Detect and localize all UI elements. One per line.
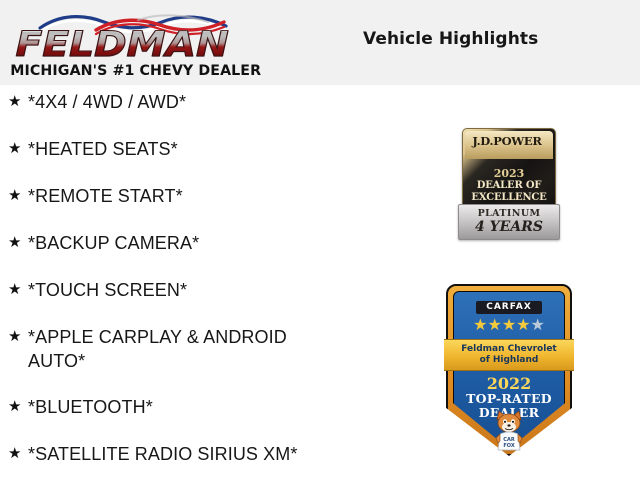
dealer-logo[interactable]: FELDMAN MICHIGAN'S #1 CHEVY DEALER: [8, 10, 236, 82]
star-bullet-icon: ★: [8, 442, 28, 466]
list-item: ★ *SATELLITE RADIO SIRIUS XM*: [0, 442, 340, 489]
vehicle-highlights-list: ★ *4X4 / 4WD / AWD* ★ *HEATED SEATS* ★ *…: [0, 90, 340, 489]
star-bullet-icon: ★: [8, 231, 28, 255]
carfax-dealer-name: Feldman Chevrolet of Highland: [444, 344, 574, 366]
feldman-wordmark-text: FELDMAN: [15, 28, 228, 62]
list-item-label: *SATELLITE RADIO SIRIUS XM*: [28, 442, 340, 466]
list-item: ★ *BACKUP CAMERA*: [0, 231, 340, 278]
jdpower-wordmark: J.D.POWER: [463, 134, 551, 148]
carfax-ribbon: Feldman Chevrolet of Highland: [444, 339, 574, 371]
star-bullet-icon: ★: [8, 325, 28, 349]
carfax-star-rating: ★★★★★: [458, 317, 560, 335]
carfax-stars-filled: ★★★★: [473, 317, 530, 334]
star-bullet-icon: ★: [8, 184, 28, 208]
list-item-label: *BLUETOOTH*: [28, 395, 340, 419]
jdpower-award-badge: J.D.POWER 2023 DEALER OF EXCELLENCE PLAT…: [462, 128, 554, 240]
dealer-tagline: MICHIGAN'S #1 CHEVY DEALER: [10, 63, 233, 79]
carfax-star-dim: ★: [531, 317, 545, 334]
jdpower-duration: 4 YEARS: [459, 219, 559, 235]
list-item: ★ *HEATED SEATS*: [0, 137, 340, 184]
list-item: ★ *APPLE CARPLAY & ANDROID AUTO*: [0, 325, 340, 395]
carfax-top-rated-dealer-badge: CARFAX ★★★★★ Feldman Chevrolet of Highla…: [446, 284, 572, 456]
list-item: ★ *4X4 / 4WD / AWD*: [0, 90, 340, 137]
list-item: ★ *TOUCH SCREEN*: [0, 278, 340, 325]
star-bullet-icon: ★: [8, 90, 28, 114]
list-item: ★ *BLUETOOTH*: [0, 395, 340, 442]
list-item-label: *HEATED SEATS*: [28, 137, 340, 161]
feldman-wordmark: FELDMAN: [8, 28, 236, 62]
list-item-label: *TOUCH SCREEN*: [28, 278, 340, 302]
list-item: ★ *REMOTE START*: [0, 184, 340, 231]
star-bullet-icon: ★: [8, 395, 28, 419]
jdpower-year: 2023: [463, 167, 555, 180]
page-title: Vehicle Highlights: [363, 29, 538, 49]
jdpower-tier: PLATINUM: [459, 208, 559, 219]
star-bullet-icon: ★: [8, 137, 28, 161]
list-item-label: *4X4 / 4WD / AWD*: [28, 90, 340, 114]
carfax-wordmark: CARFAX: [476, 301, 542, 314]
jdpower-award-title: DEALER OF EXCELLENCE: [463, 180, 555, 203]
car-fox-shirt-text: CAR FOX: [492, 438, 526, 449]
list-item-label: *APPLE CARPLAY & ANDROID AUTO*: [28, 325, 340, 373]
jdpower-plaque: PLATINUM 4 YEARS: [458, 204, 560, 240]
car-fox-mascot-icon: CAR FOX: [492, 410, 526, 452]
list-item-label: *REMOTE START*: [28, 184, 340, 208]
list-item-label: *BACKUP CAMERA*: [28, 231, 340, 255]
star-bullet-icon: ★: [8, 278, 28, 302]
